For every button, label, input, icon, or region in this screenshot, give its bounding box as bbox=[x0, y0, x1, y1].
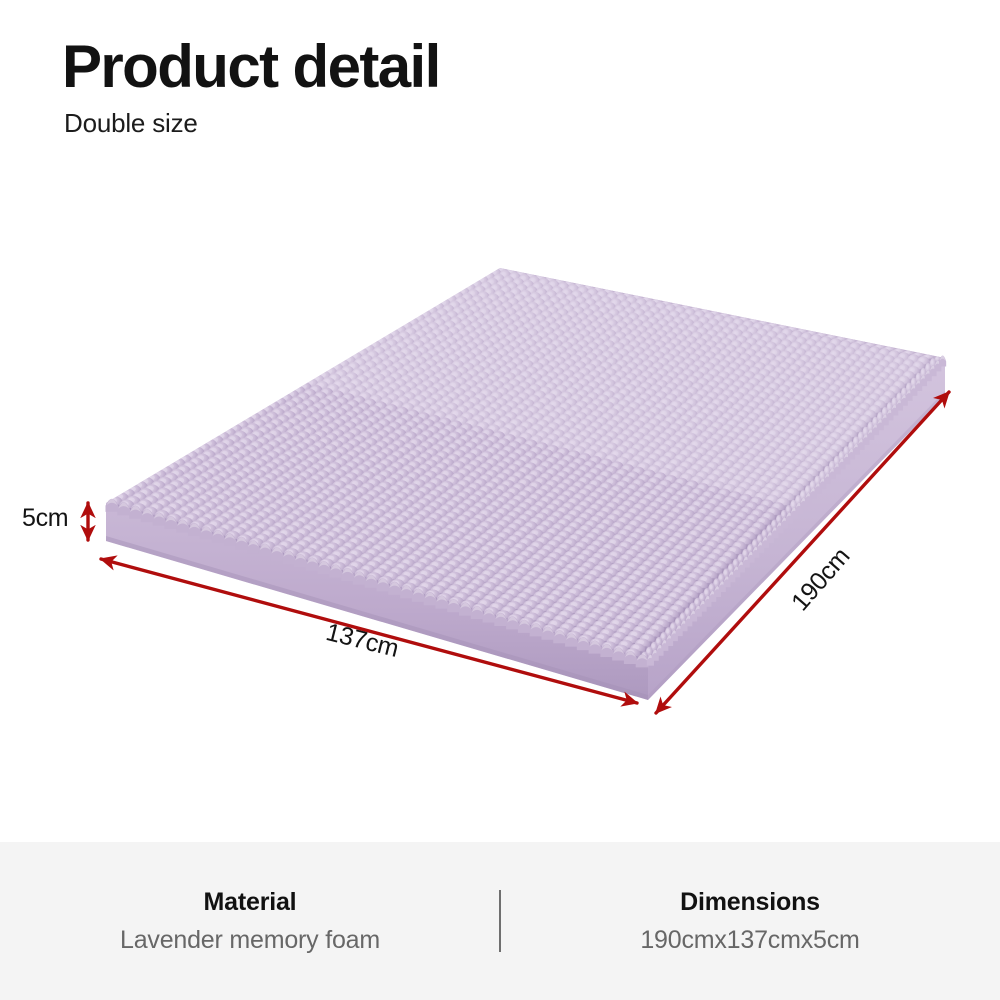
height-dimension-label: 5cm bbox=[22, 504, 68, 533]
foam-topper-svg bbox=[0, 0, 1000, 842]
spec-material-heading: Material bbox=[204, 888, 297, 917]
spec-material: Material Lavender memory foam bbox=[0, 888, 500, 955]
spec-dimensions-heading: Dimensions bbox=[680, 888, 820, 917]
spec-material-value: Lavender memory foam bbox=[120, 926, 380, 955]
spec-dimensions-value: 190cmx137cmx5cm bbox=[640, 926, 859, 955]
product-detail-page: Product detail Double size bbox=[0, 0, 1000, 1000]
spec-dimensions: Dimensions 190cmx137cmx5cm bbox=[500, 888, 1000, 955]
product-illustration: 5cm 137cm 190cm bbox=[0, 0, 1000, 842]
egg-crate-bumps bbox=[107, 268, 940, 670]
spec-bar: Material Lavender memory foam Dimensions… bbox=[0, 842, 1000, 1000]
